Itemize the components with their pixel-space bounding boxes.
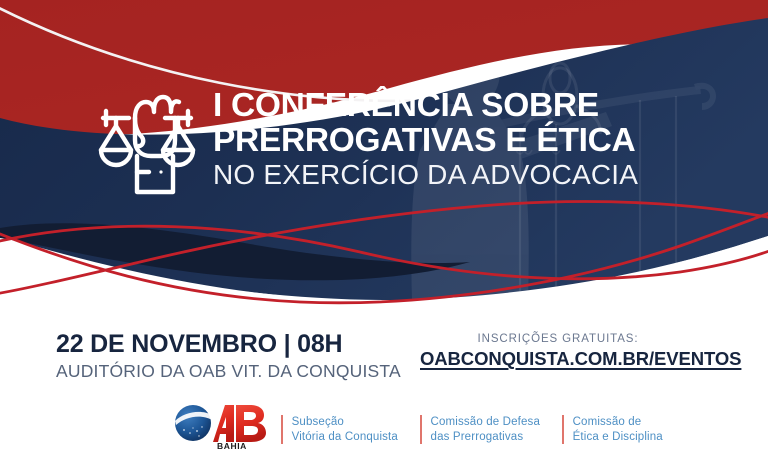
scales-of-justice-fist-icon	[95, 88, 199, 196]
oab-logo-wrap: BAHIA	[172, 403, 272, 457]
oab-letter-a	[213, 405, 234, 442]
footer-entry-line-2: Vitória da Conquista	[292, 430, 398, 445]
footer-entry-subsecao: Subseção Vitória da Conquista	[272, 415, 411, 444]
footer-entry-line-1: Subseção	[292, 415, 398, 430]
oab-logo	[172, 403, 272, 443]
footer-entry-text: Subseção Vitória da Conquista	[292, 415, 398, 444]
footer-entry-line-1: Comissão de	[573, 415, 663, 430]
footer-entry-text: Comissão de Ética e Disciplina	[573, 415, 663, 444]
footer-entry-etica: Comissão de Ética e Disciplina	[553, 415, 676, 444]
event-date: 22 DE NOVEMBRO | 08H	[56, 330, 401, 358]
oab-state-label: BAHIA	[217, 441, 247, 451]
footer-entry-prerrogativas: Comissão de Defesa das Prerrogativas	[411, 415, 553, 444]
footer-entry-line-1: Comissão de Defesa	[431, 415, 540, 430]
footer-entry-line-2: das Prerrogativas	[431, 430, 540, 445]
registration-label: INSCRIÇÕES GRATUITAS:	[420, 332, 696, 347]
title-line-3: NO EXERCÍCIO DA ADVOCACIA	[213, 158, 638, 191]
footer-divider	[281, 415, 283, 444]
footer-bar: BAHIA Subseção Vitória da Conquista Comi…	[172, 403, 676, 457]
oab-globe-icon	[175, 405, 211, 441]
event-poster: I CONFERÊNCIA SOBRE PRERROGATIVAS E ÉTIC…	[0, 0, 768, 476]
event-venue: AUDITÓRIO DA OAB VIT. DA CONQUISTA	[56, 358, 401, 382]
date-venue-block: 22 DE NOVEMBRO | 08H AUDITÓRIO DA OAB VI…	[56, 330, 401, 382]
footer-divider	[562, 415, 564, 444]
footer-entry-text: Comissão de Defesa das Prerrogativas	[431, 415, 540, 444]
title-line-1: I CONFERÊNCIA SOBRE	[213, 88, 638, 123]
footer-entry-line-2: Ética e Disciplina	[573, 430, 663, 445]
registration-block: INSCRIÇÕES GRATUITAS: OABCONQUISTA.COM.B…	[420, 332, 696, 371]
title-text-group: I CONFERÊNCIA SOBRE PRERROGATIVAS E ÉTIC…	[213, 86, 638, 191]
title-line-2: PRERROGATIVAS E ÉTICA	[213, 123, 638, 158]
title-block: I CONFERÊNCIA SOBRE PRERROGATIVAS E ÉTIC…	[95, 86, 638, 196]
registration-url-link[interactable]: OABCONQUISTA.COM.BR/EVENTOS	[420, 347, 741, 371]
footer-entries: Subseção Vitória da Conquista Comissão d…	[272, 403, 676, 444]
footer-divider	[420, 415, 422, 444]
oab-letter-b	[236, 405, 266, 442]
